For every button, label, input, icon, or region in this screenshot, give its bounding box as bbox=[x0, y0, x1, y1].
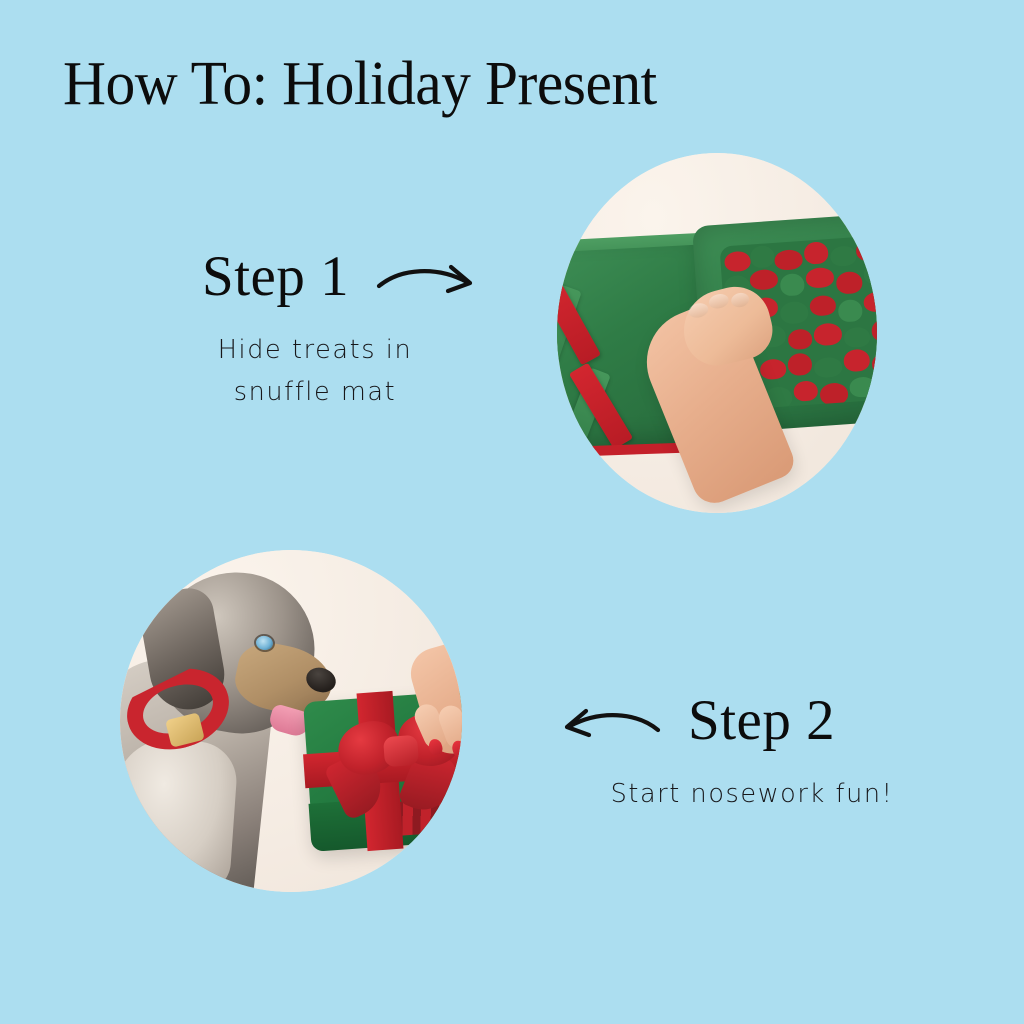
step-2-heading-row: Step 2 bbox=[552, 692, 952, 749]
curved-arrow-left-icon bbox=[558, 700, 662, 746]
dog-chest bbox=[120, 736, 239, 892]
step-1-block: Step 1 Hide treats in snuffle mat bbox=[140, 248, 490, 413]
dog-with-present-photo bbox=[120, 550, 462, 892]
step-2-caption: Start nosework fun! bbox=[552, 773, 952, 815]
step-1-heading-row: Step 1 bbox=[140, 248, 490, 305]
curved-arrow-right-icon bbox=[375, 256, 479, 302]
step-1-heading: Step 1 bbox=[202, 248, 349, 305]
bow-knot bbox=[383, 735, 419, 767]
step-1-caption: Hide treats in snuffle mat bbox=[140, 329, 490, 413]
step-2-block: Step 2 Start nosework fun! bbox=[552, 692, 952, 815]
page-title: How To: Holiday Present bbox=[63, 52, 657, 117]
step-2-heading: Step 2 bbox=[688, 692, 835, 749]
snuffle-mat-photo bbox=[557, 153, 877, 513]
how-to-infographic: How To: Holiday Present Step 1 Hide trea… bbox=[0, 0, 1024, 1024]
